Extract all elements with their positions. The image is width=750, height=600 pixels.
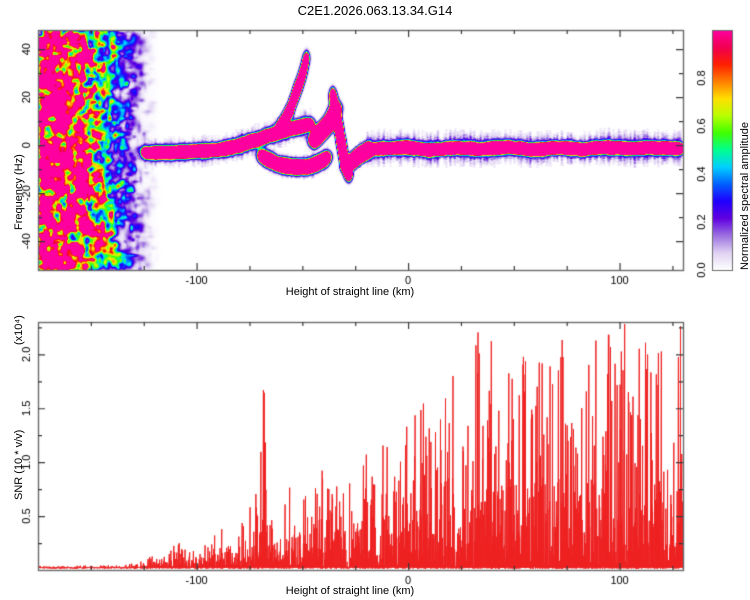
figure-root: C2E1.2026.063.13.34.G14 Height of straig… bbox=[0, 0, 750, 600]
plot-canvas bbox=[0, 0, 750, 600]
